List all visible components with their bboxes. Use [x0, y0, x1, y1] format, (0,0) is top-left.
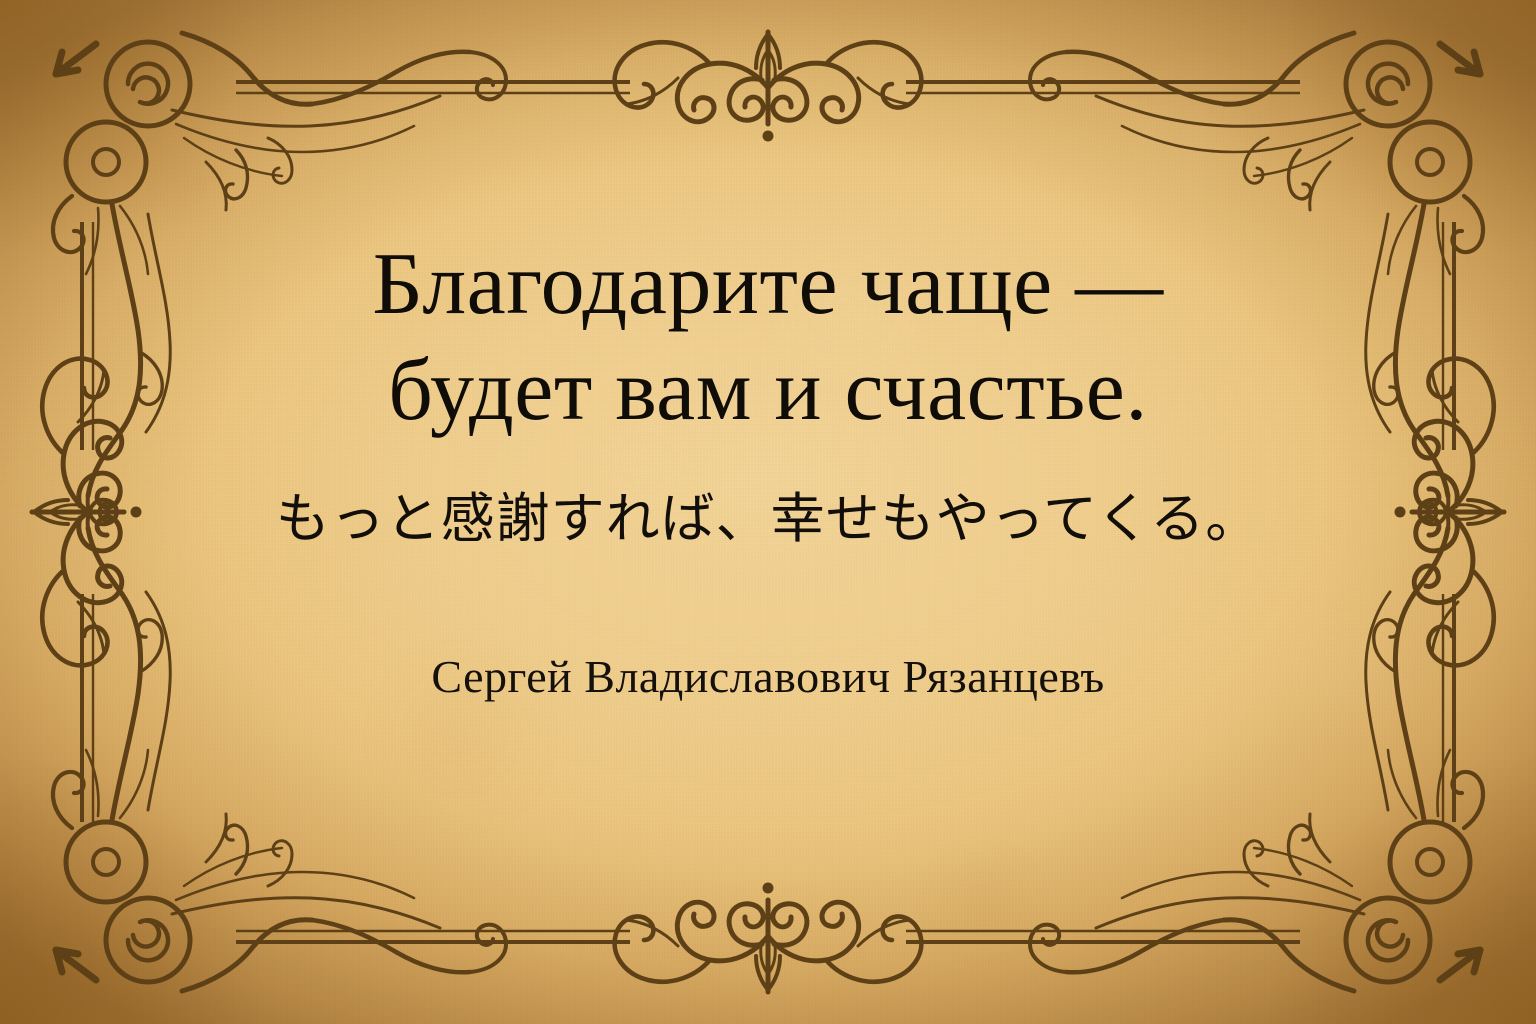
quote-translation-japanese: もっと感謝すれば、幸せもやってくる。: [276, 485, 1261, 553]
quote-poster: Благодарите чаще — будет вам и счастье. …: [0, 0, 1536, 1024]
quote-author: Сергей Владиславович Рязанцевъ: [431, 649, 1104, 704]
quote-text: Благодарите чаще — будет вам и счастье.: [372, 232, 1163, 443]
quote-content: Благодарите чаще — будет вам и счастье. …: [110, 0, 1426, 1024]
